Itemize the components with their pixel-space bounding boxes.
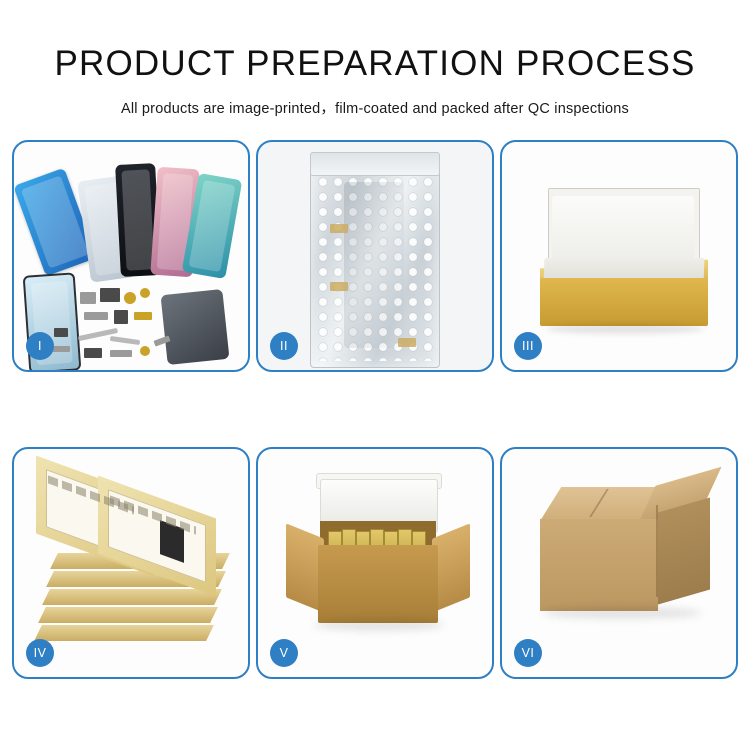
process-step-6: VI [500, 447, 738, 679]
step-badge-3: III [514, 332, 542, 360]
step-badge-6: VI [514, 639, 542, 667]
step-badge-5: V [270, 639, 298, 667]
product-preparation-page: PRODUCT PREPARATION PROCESS All products… [0, 0, 750, 750]
step-badge-4: IV [26, 639, 54, 667]
process-step-1: I [12, 140, 250, 372]
page-subtitle: All products are image-printed，film-coat… [0, 84, 750, 118]
process-step-2: II [256, 140, 494, 372]
page-title: PRODUCT PREPARATION PROCESS [0, 0, 750, 84]
process-step-4: IV [12, 447, 250, 679]
process-steps-grid: I II III [12, 140, 738, 679]
process-step-5: V [256, 447, 494, 679]
process-step-3: III [500, 140, 738, 372]
step-badge-1: I [26, 332, 54, 360]
step-badge-2: II [270, 332, 298, 360]
